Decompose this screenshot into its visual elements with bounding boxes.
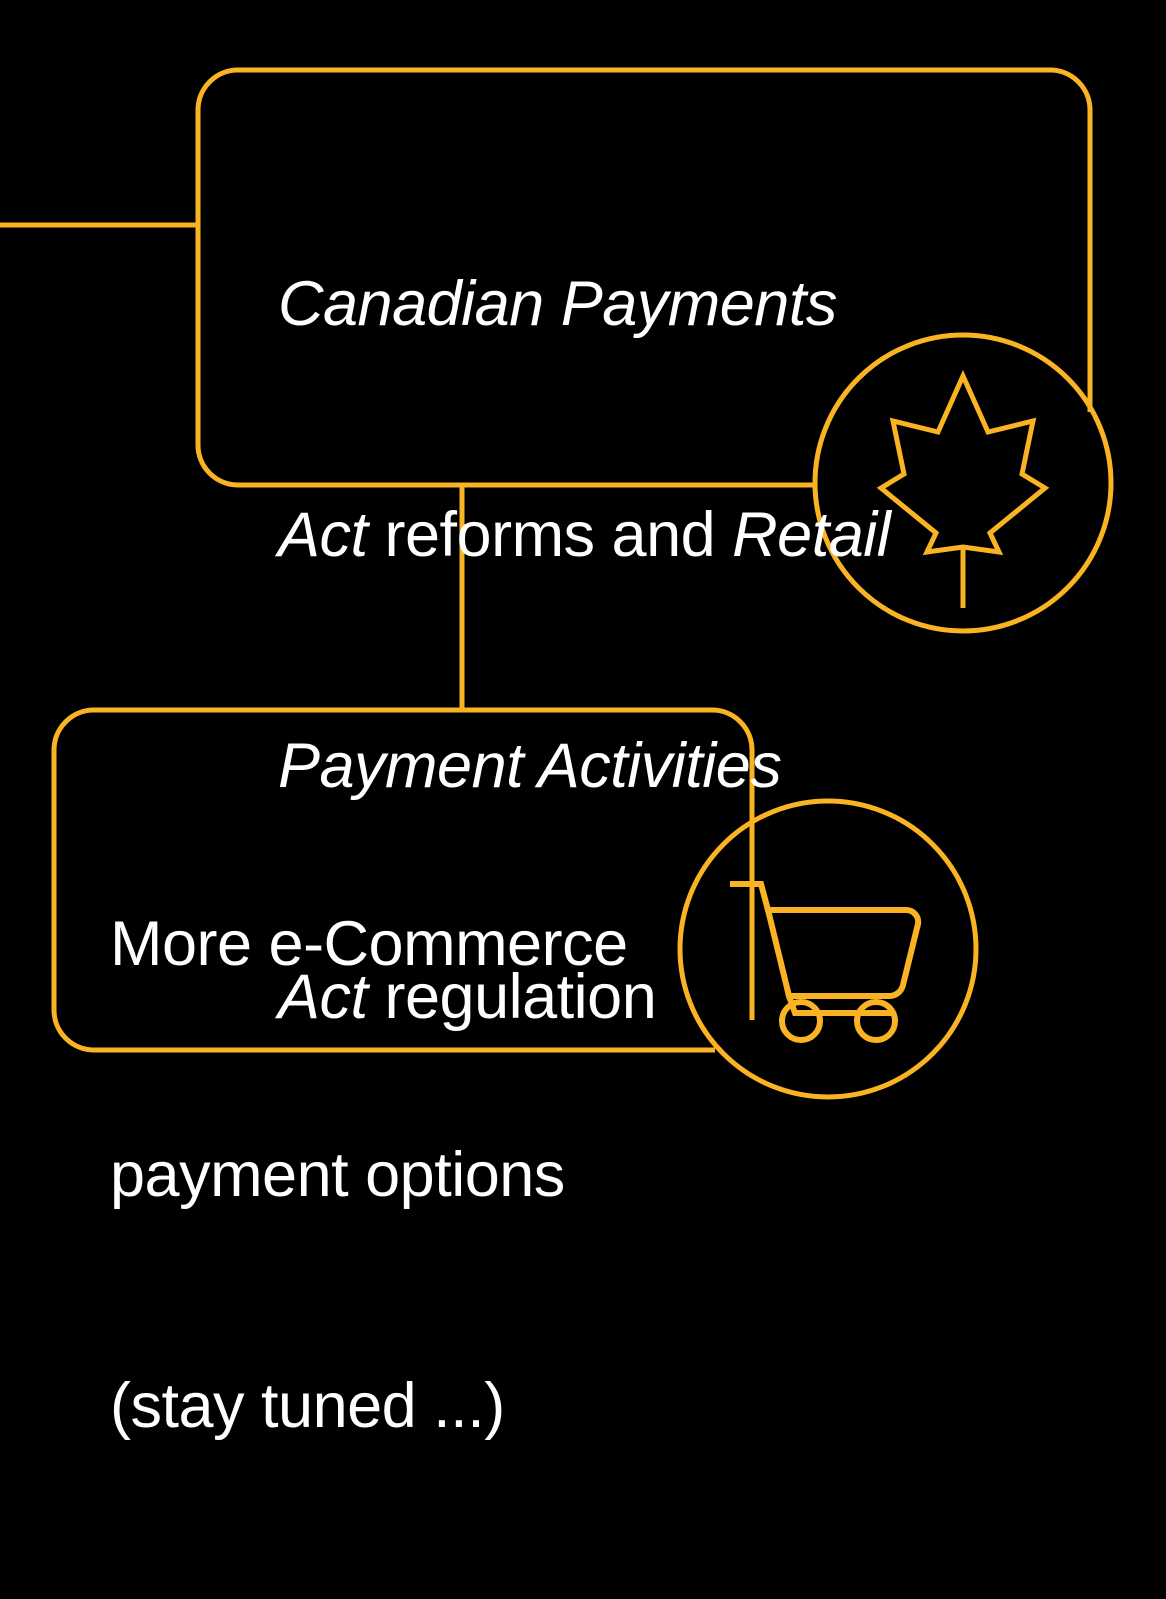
text-line: (stay tuned ...) bbox=[110, 1368, 628, 1445]
ecommerce-options-card-text: More e-Commerce payment options (stay tu… bbox=[110, 752, 628, 1599]
text-run: payment options bbox=[110, 1140, 565, 1210]
text-line: Act reforms and Retail bbox=[278, 497, 890, 574]
text-run: More e-Commerce bbox=[110, 909, 628, 979]
text-run: (stay tuned ...) bbox=[110, 1371, 505, 1441]
text-line: Canadian Payments bbox=[278, 266, 890, 343]
text-line: More e-Commerce bbox=[110, 906, 628, 983]
infographic-canvas: Canadian Payments Act reforms and Retail… bbox=[0, 0, 1166, 1166]
text-run: Act bbox=[278, 500, 368, 570]
text-run: Canadian Payments bbox=[278, 269, 837, 339]
text-run: reforms and bbox=[368, 500, 733, 570]
text-run: Retail bbox=[732, 500, 890, 570]
text-line: payment options bbox=[110, 1137, 628, 1214]
